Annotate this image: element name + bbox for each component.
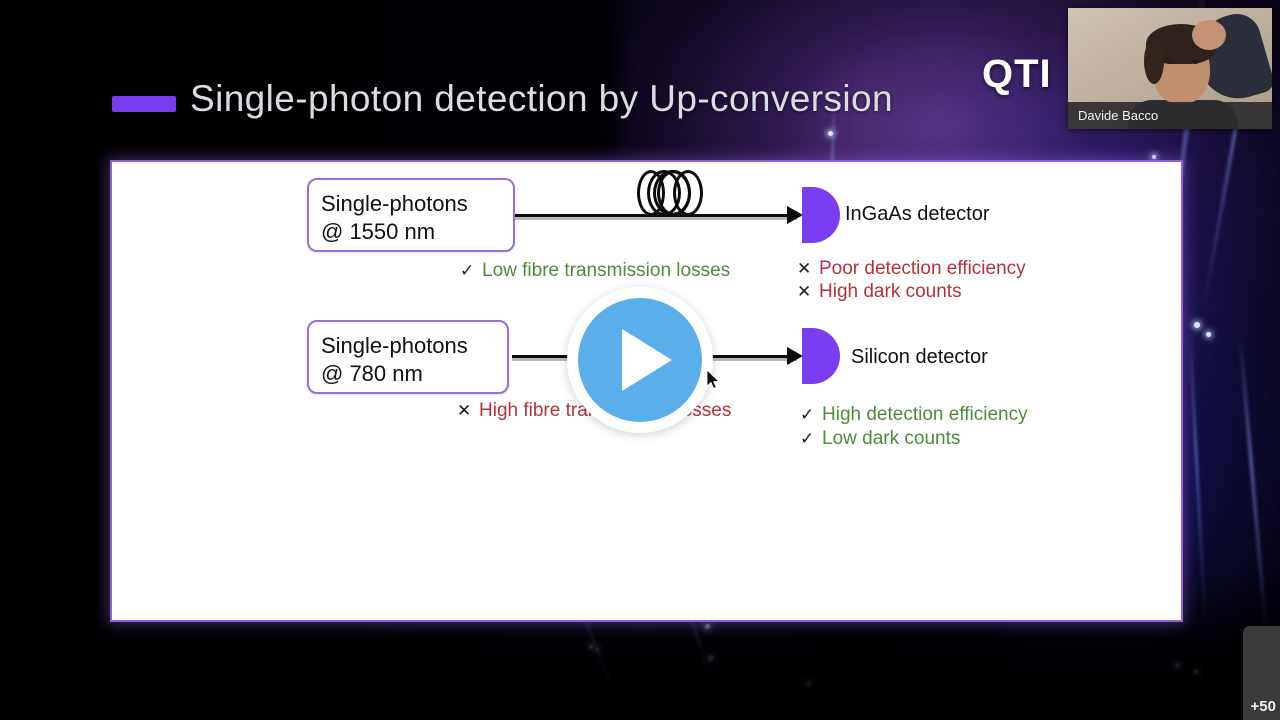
qti-logo: QTI	[982, 52, 1052, 97]
arrow-head-icon	[787, 347, 803, 365]
arrow-head-icon	[787, 206, 803, 224]
detector-label-ingaas: InGaAs detector	[845, 203, 990, 226]
note-high-detection-efficiency: ✓High detection efficiency	[800, 404, 1028, 426]
participant-hair-side	[1144, 38, 1164, 84]
photon-source-line2: @ 1550 nm	[321, 218, 499, 246]
note-text: Low fibre transmission losses	[482, 260, 730, 281]
ingaas-detector-icon	[802, 187, 840, 243]
star-dot	[1206, 332, 1211, 337]
star-dot	[1194, 322, 1200, 328]
photon-source-line2: @ 780 nm	[321, 360, 493, 388]
screen-root: Single-photon detection by Up-conversion…	[0, 0, 1280, 720]
participant-eye-right	[1192, 60, 1199, 64]
check-icon: ✓	[800, 405, 822, 425]
photon-source-box-1550: Single-photons @ 1550 nm	[307, 178, 515, 252]
participant-hand	[1192, 20, 1226, 50]
note-text: High detection efficiency	[822, 404, 1028, 425]
mouse-cursor	[707, 370, 721, 390]
note-text: Poor detection efficiency	[819, 258, 1026, 279]
note-text: Low dark counts	[822, 428, 960, 449]
participant-name-label: Davide Bacco	[1068, 108, 1158, 123]
check-icon: ✓	[460, 261, 482, 281]
detector-label-silicon: Silicon detector	[851, 346, 988, 369]
cross-icon: ✕	[797, 259, 819, 279]
photon-source-line1: Single-photons	[321, 332, 493, 360]
note-low-fibre-loss: ✓Low fibre transmission losses	[460, 260, 730, 282]
page-title: Single-photon detection by Up-conversion	[190, 78, 893, 120]
cross-icon: ✕	[457, 401, 479, 421]
star-dot	[828, 131, 833, 136]
note-low-dark-counts: ✓Low dark counts	[800, 428, 960, 450]
silicon-detector-icon	[802, 328, 840, 384]
participant-eye-left	[1166, 60, 1173, 64]
fibre-coil-icon	[637, 170, 707, 220]
play-button-disc	[578, 298, 702, 422]
note-text: High dark counts	[819, 281, 962, 302]
play-triangle-icon	[622, 329, 672, 391]
note-poor-detection-efficiency: ✕Poor detection efficiency	[797, 258, 1026, 280]
participants-overflow-tile[interactable]: +50	[1243, 626, 1280, 720]
cross-icon: ✕	[797, 282, 819, 302]
check-icon: ✓	[800, 429, 822, 449]
photon-source-line1: Single-photons	[321, 190, 499, 218]
participant-video-tile[interactable]: Davide Bacco	[1068, 8, 1272, 129]
note-high-dark-counts: ✕High dark counts	[797, 281, 962, 303]
participant-name-bar: Davide Bacco	[1068, 102, 1272, 129]
title-accent-bar	[112, 96, 176, 112]
participants-overflow-count: +50	[1251, 698, 1276, 715]
star-dot	[1152, 155, 1156, 159]
photon-source-box-780: Single-photons @ 780 nm	[307, 320, 509, 394]
play-button[interactable]	[567, 287, 713, 433]
